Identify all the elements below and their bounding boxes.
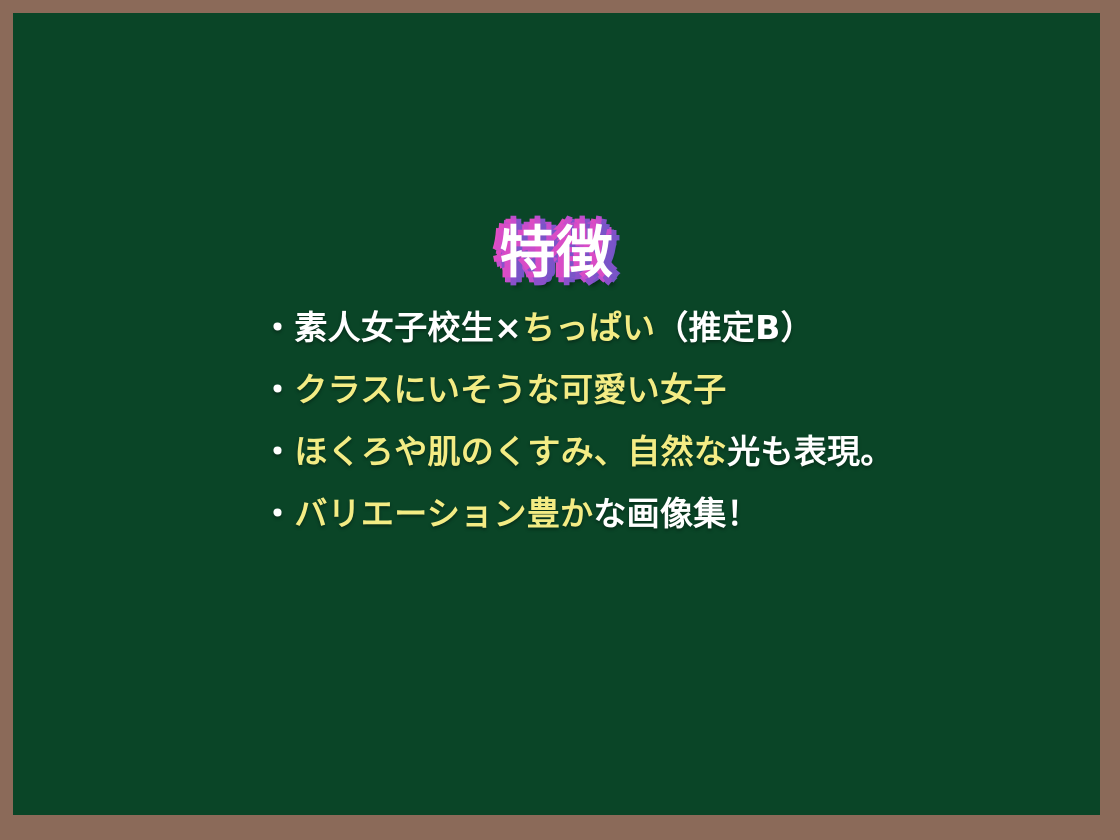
feature-text-segment: （推定B） [655, 308, 814, 347]
feature-list-item: ・バリエーション豊かな画像集！ [261, 497, 1080, 559]
feature-text-segment: 光も表現。 [727, 432, 894, 471]
page-title-fill: 特徴 [500, 226, 614, 282]
feature-text-segment: ほくろや肌のくすみ、自然な [294, 432, 727, 471]
slide-canvas: 特徴 特徴 ・素人女子校生×ちっぱい（推定B）・クラスにいそうな可愛い女子・ほく… [13, 13, 1100, 815]
feature-text-segment: バリエーション豊か [294, 494, 593, 533]
feature-list-item: ・クラスにいそうな可愛い女子 [261, 373, 1080, 435]
feature-text-segment: 素人女子校生× [294, 308, 522, 347]
slide-frame: 特徴 特徴 ・素人女子校生×ちっぱい（推定B）・クラスにいそうな可愛い女子・ほく… [0, 0, 1120, 840]
title-block: 特徴 特徴 [13, 226, 1100, 282]
feature-text-segment: な画像集！ [593, 494, 760, 533]
feature-list: ・素人女子校生×ちっぱい（推定B）・クラスにいそうな可愛い女子・ほくろや肌のくす… [261, 311, 1080, 559]
page-title: 特徴 特徴 [500, 226, 614, 282]
bullet-icon: ・ [261, 432, 294, 471]
feature-list-item: ・ほくろや肌のくすみ、自然な光も表現。 [261, 435, 1080, 497]
feature-text-segment: クラスにいそうな可愛い女子 [294, 370, 726, 409]
feature-list-item: ・素人女子校生×ちっぱい（推定B） [261, 311, 1080, 373]
bullet-icon: ・ [261, 494, 294, 533]
feature-text-segment: ちっぱい [522, 308, 655, 347]
page-title-outline: 特徴 [500, 226, 614, 282]
bullet-icon: ・ [261, 370, 294, 409]
bullet-icon: ・ [261, 308, 294, 347]
